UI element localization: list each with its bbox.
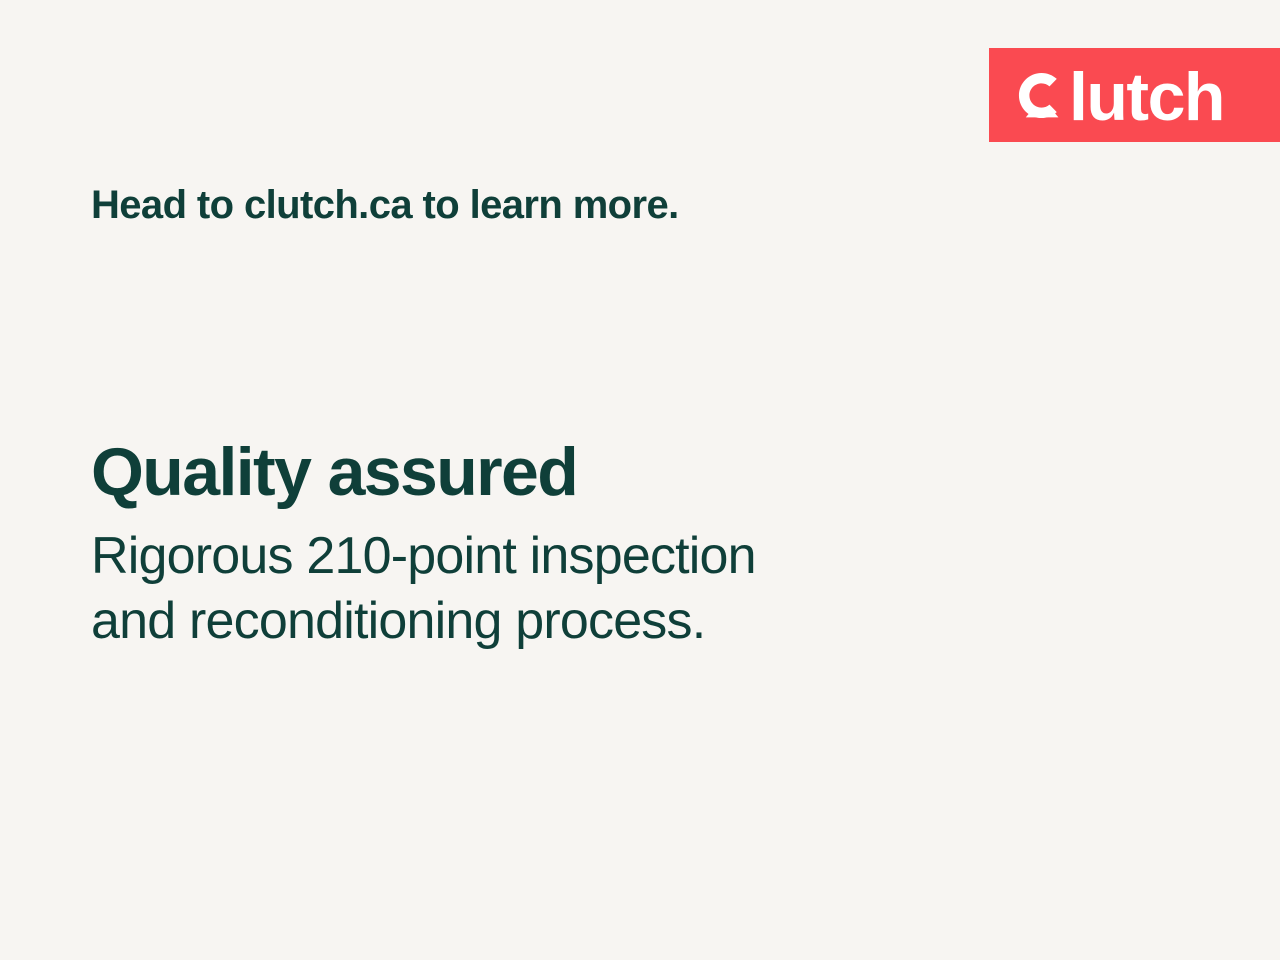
brand-banner: lutch	[989, 48, 1280, 142]
page-title: Quality assured	[91, 436, 1091, 508]
subcopy: Rigorous 210-point inspection and recond…	[91, 508, 1091, 653]
subcopy-line-2: and reconditioning process.	[91, 589, 1091, 653]
eyebrow-text: Head to clutch.ca to learn more.	[91, 182, 679, 229]
subcopy-line-1: Rigorous 210-point inspection	[91, 524, 1091, 588]
clutch-wordmark-text: lutch	[1069, 63, 1224, 131]
clutch-c-mark-icon	[1018, 72, 1065, 119]
slide-canvas: lutch Head to clutch.ca to learn more. Q…	[0, 0, 1280, 960]
headline-block: Quality assured Rigorous 210-point inspe…	[91, 436, 1091, 653]
clutch-logo[interactable]: lutch	[1018, 48, 1224, 142]
